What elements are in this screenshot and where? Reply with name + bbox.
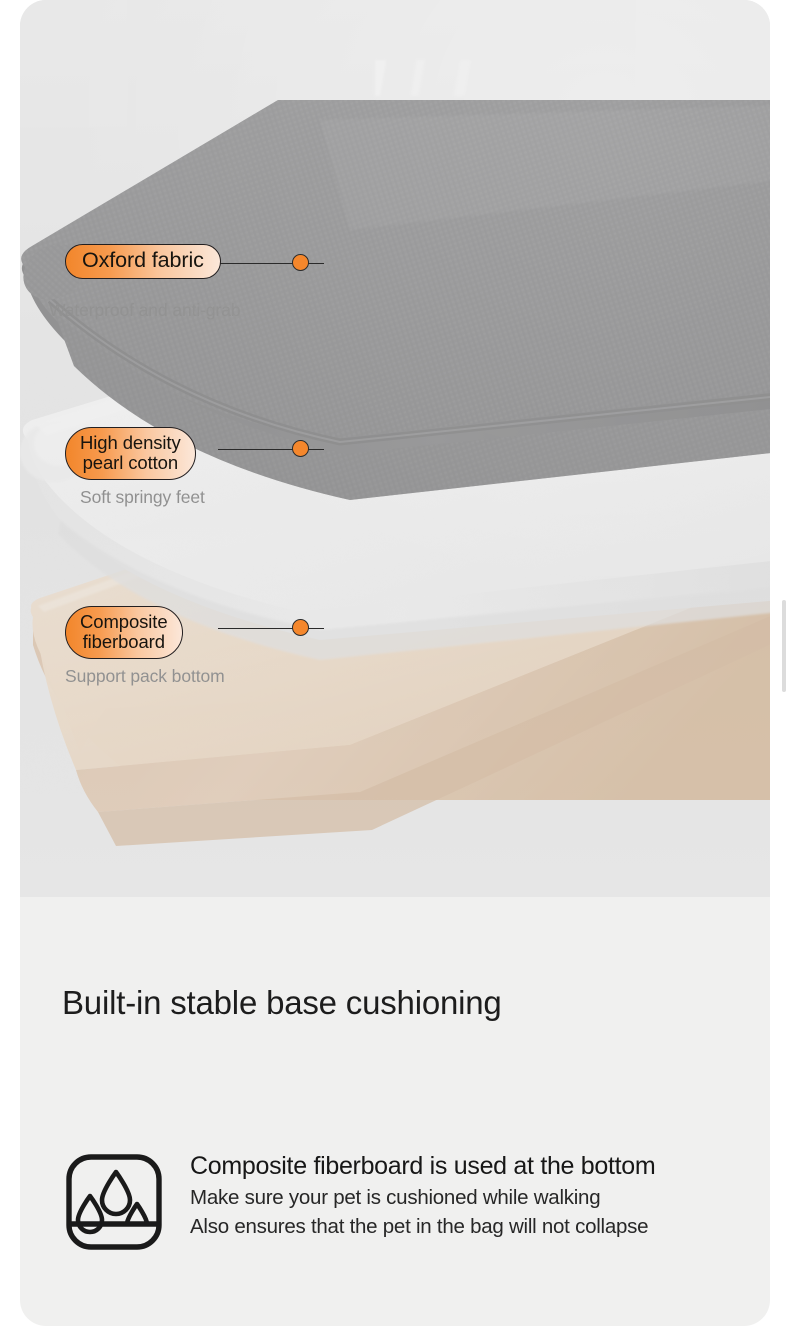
page-scrollbar-thumb[interactable] (782, 600, 786, 692)
feature-title: Composite fiberboard is used at the bott… (190, 1152, 655, 1180)
product-feature-card: Oxford fabric Waterproof and anti-grab H… (20, 0, 770, 1326)
callout-dot-oxford-fabric (292, 254, 309, 271)
feature-text-group: Composite fiberboard is used at the bott… (190, 1148, 655, 1241)
callout-caption-composite-fiberboard: Support pack bottom (65, 666, 225, 687)
callout-caption-oxford-fabric: Waterproof and anti-grab (49, 300, 241, 321)
callout-oxford-fabric: Oxford fabric (65, 244, 221, 279)
feature-line-1: Make sure your pet is cushioned while wa… (190, 1183, 655, 1212)
water-droplets-icon (64, 1152, 164, 1252)
callout-pill-pearl-cotton: High density pearl cotton (65, 427, 196, 480)
callout-dot-composite-fiberboard (292, 619, 309, 636)
feature-line-2: Also ensures that the pet in the bag wil… (190, 1212, 655, 1241)
callout-dot-pearl-cotton (292, 440, 309, 457)
callout-pill-composite-fiberboard: Composite fiberboard (65, 606, 183, 659)
callout-pearl-cotton: High density pearl cotton (65, 427, 196, 480)
callout-pill-oxford-fabric: Oxford fabric (65, 244, 221, 279)
callout-caption-pearl-cotton: Soft springy feet (80, 487, 205, 508)
feature-block: Composite fiberboard is used at the bott… (64, 1148, 764, 1252)
product-image-panel: Oxford fabric Waterproof and anti-grab H… (20, 0, 770, 897)
callout-composite-fiberboard: Composite fiberboard (65, 606, 183, 659)
section-headline: Built-in stable base cushioning (62, 968, 702, 1038)
